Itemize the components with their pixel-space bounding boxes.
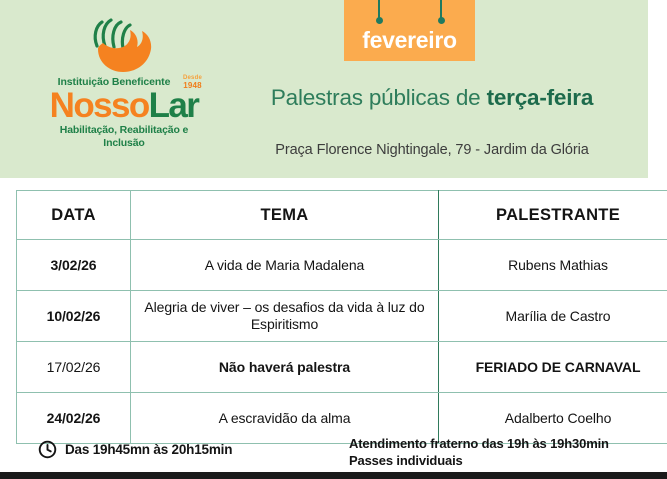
pin-right-icon <box>440 0 442 20</box>
logo-name-part2: Lar <box>149 86 199 125</box>
cell-date: 3/02/26 <box>17 240 131 291</box>
cell-speaker: Marília de Castro <box>439 291 667 342</box>
poster-header: Instituição Beneficente Desde 1948 Nosso… <box>0 0 648 178</box>
column-header-speaker: PALESTRANTE <box>439 191 667 240</box>
page-title-strong: terça-feira <box>487 85 594 110</box>
logo-tagline-bottom: Habilitação, Reabilitação e Inclusão <box>38 124 210 150</box>
logo: Instituição Beneficente Desde 1948 Nosso… <box>38 16 210 150</box>
hands-flame-icon <box>85 16 163 74</box>
schedule-table: DATA TEMA PALESTRANTE 3/02/26 A vida de … <box>16 190 667 444</box>
cell-topic: Alegria de viver – os desafios da vida à… <box>131 291 439 342</box>
hand-shape <box>98 30 151 72</box>
poster-footer: Das 19h45mn às 20h15min Atendimento frat… <box>0 428 667 472</box>
page-title: Palestras públicas de terça-feira <box>232 85 632 111</box>
cell-date: 10/02/26 <box>17 291 131 342</box>
cell-topic: Não haverá palestra <box>131 342 439 393</box>
column-header-topic: TEMA <box>131 191 439 240</box>
cell-speaker: FERIADO DE CARNAVAL <box>439 342 667 393</box>
month-label: fevereiro <box>344 27 475 54</box>
table-row: 3/02/26 A vida de Maria Madalena Rubens … <box>17 240 667 291</box>
pin-left-icon <box>378 0 380 20</box>
cell-date: 17/02/26 <box>17 342 131 393</box>
fraternal-service-line1: Atendimento fraterno das 19h às 19h30min <box>349 435 609 452</box>
venue-address: Praça Florence Nightingale, 79 - Jardim … <box>212 142 648 158</box>
fraternal-service-line2: Passes individuais <box>349 452 609 469</box>
table-row: 17/02/26 Não haverá palestra FERIADO DE … <box>17 342 667 393</box>
logo-since-year: 1948 <box>183 82 202 90</box>
lecture-time-block: Das 19h45mn às 20h15min <box>38 440 232 459</box>
page-title-prefix: Palestras públicas de <box>271 85 487 110</box>
fraternal-service-block: Atendimento fraterno das 19h às 19h30min… <box>349 435 609 469</box>
clock-icon <box>38 440 57 459</box>
logo-name-part1: Nosso <box>50 86 149 125</box>
cell-topic: A vida de Maria Madalena <box>131 240 439 291</box>
bottom-bar <box>0 472 667 479</box>
logo-since-badge: Desde 1948 <box>183 74 202 90</box>
logo-tagline-top: Instituição Beneficente <box>28 76 200 88</box>
month-banner: fevereiro <box>344 0 475 61</box>
column-header-date: DATA <box>17 191 131 240</box>
table-header-row: DATA TEMA PALESTRANTE <box>17 191 667 240</box>
logo-wordmark: NossoLar <box>38 89 210 123</box>
table-row: 10/02/26 Alegria de viver – os desafios … <box>17 291 667 342</box>
lecture-time-text: Das 19h45mn às 20h15min <box>65 442 232 457</box>
cell-speaker: Rubens Mathias <box>439 240 667 291</box>
